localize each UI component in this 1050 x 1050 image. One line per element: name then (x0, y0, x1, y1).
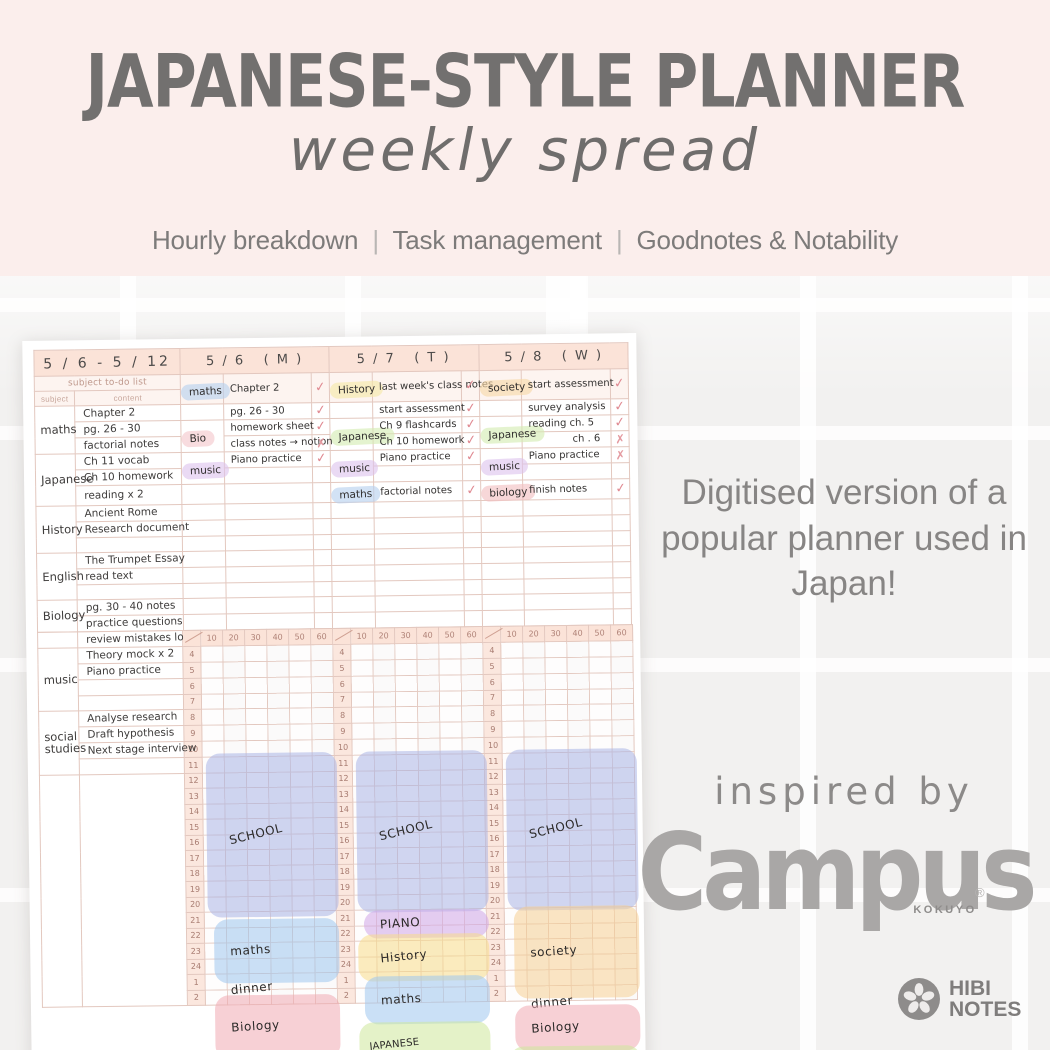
timeline-slot[interactable] (443, 986, 465, 1002)
timeline-slot[interactable] (568, 768, 590, 784)
timeline-slot[interactable] (373, 676, 395, 692)
timeline-slot[interactable] (611, 688, 633, 704)
timeline-slot[interactable] (547, 814, 569, 830)
timeline-slot[interactable] (373, 660, 395, 676)
timeline-slot[interactable] (440, 706, 462, 722)
timeline-slot[interactable] (204, 881, 226, 897)
timeline-slot[interactable] (442, 924, 464, 940)
timeline-slot[interactable] (202, 725, 224, 741)
timeline-slot[interactable] (549, 954, 571, 970)
timeline-slot[interactable] (248, 880, 270, 896)
timeline-slot[interactable] (354, 863, 376, 879)
timeline-slot[interactable] (464, 878, 486, 894)
timeline-slot[interactable] (501, 674, 523, 690)
todo-content-0-1[interactable]: pg. 26 - 30 (76, 420, 181, 438)
day-task-tue-1-0[interactable]: Ch 9 flashcards (373, 417, 461, 433)
timeline-slot[interactable] (202, 757, 224, 773)
timeline-slot[interactable] (417, 691, 439, 707)
todo-content-extra[interactable]: Piano practice (78, 662, 182, 680)
timeline-slot[interactable] (289, 677, 311, 693)
timeline-slot[interactable] (547, 845, 569, 861)
timeline-slot[interactable] (269, 787, 291, 803)
timeline-slot[interactable] (567, 641, 589, 657)
timeline-slot[interactable] (397, 847, 419, 863)
timeline-slot[interactable] (377, 956, 399, 972)
timeline-slot[interactable] (421, 987, 443, 1003)
task-check-tue-1-1[interactable]: ✓ (461, 433, 480, 449)
timeline-slot[interactable] (226, 865, 248, 881)
timeline-event-block[interactable] (510, 1045, 641, 1050)
day-task-mon-1-1[interactable]: class notes → notion (224, 435, 312, 451)
timeline-slot[interactable] (526, 908, 548, 924)
day-chip-wed-2[interactable]: music (483, 459, 525, 475)
day-chip-tue-3[interactable]: maths (334, 487, 378, 503)
timeline-slot[interactable] (615, 984, 637, 1000)
timeline-slot[interactable] (311, 645, 333, 661)
timeline-slot[interactable] (315, 988, 337, 1004)
timeline-slot[interactable] (226, 912, 248, 928)
timeline-slot[interactable] (545, 641, 567, 657)
timeline-slot[interactable] (352, 770, 374, 786)
timeline-slot[interactable] (315, 972, 337, 988)
timeline-slot[interactable] (202, 709, 224, 725)
timeline-slot[interactable] (524, 737, 546, 753)
timeline-slot[interactable] (439, 643, 461, 659)
timeline-slot[interactable] (463, 816, 485, 832)
timeline-slot[interactable] (223, 693, 245, 709)
task-cross-mon-1-1[interactable]: ✗ (312, 435, 331, 451)
timeline-slot[interactable] (314, 864, 336, 880)
timeline-slot[interactable] (311, 692, 333, 708)
timeline-slot[interactable] (569, 830, 591, 846)
todo-content-2-1[interactable]: Research document (77, 520, 182, 538)
timeline-slot[interactable] (461, 643, 483, 659)
timeline-slot[interactable] (271, 942, 293, 958)
timeline-slot[interactable] (223, 678, 245, 694)
timeline-slot[interactable] (224, 709, 246, 725)
timeline-slot[interactable] (545, 657, 567, 673)
timeline-slot[interactable] (418, 706, 440, 722)
timeline-slot[interactable] (505, 939, 527, 955)
timeline-slot[interactable] (439, 675, 461, 691)
timeline-slot[interactable] (525, 799, 547, 815)
timeline-slot[interactable] (502, 705, 524, 721)
timeline-slot[interactable] (464, 924, 486, 940)
timeline-slot[interactable] (592, 907, 614, 923)
timeline-slot[interactable] (352, 723, 374, 739)
timeline-slot[interactable] (397, 801, 419, 817)
task-check-mon-0-0[interactable]: ✓ (311, 380, 330, 396)
timeline-slot[interactable] (227, 989, 249, 1005)
timeline-slot[interactable] (224, 725, 246, 741)
timeline-slot[interactable] (269, 818, 291, 834)
timeline-slot[interactable] (248, 927, 270, 943)
todo-subject-2[interactable]: History (37, 523, 77, 536)
task-cross-wed-1-1[interactable]: ✗ (611, 431, 630, 447)
timeline-slot[interactable] (418, 754, 440, 770)
timeline-slot[interactable] (590, 736, 612, 752)
timeline-slot[interactable] (396, 754, 418, 770)
timeline-slot[interactable] (202, 741, 224, 757)
timeline-slot[interactable] (440, 722, 462, 738)
timeline-slot[interactable] (440, 769, 462, 785)
timeline-slot[interactable] (269, 834, 291, 850)
timeline-slot[interactable] (227, 958, 249, 974)
timeline-slot[interactable] (267, 661, 289, 677)
timeline-slot[interactable] (293, 957, 315, 973)
timeline-slot[interactable] (397, 816, 419, 832)
todo-content-extra[interactable]: Analyse research (79, 709, 183, 727)
timeline-slot[interactable] (463, 800, 485, 816)
timeline-slot[interactable] (353, 817, 375, 833)
timeline-slot[interactable] (419, 785, 441, 801)
todo-content-4-2[interactable]: review mistakes log (78, 630, 182, 648)
timeline-slot[interactable] (291, 849, 313, 865)
timeline-slot[interactable] (290, 708, 312, 724)
timeline-slot[interactable] (248, 896, 270, 912)
timeline-slot[interactable] (311, 677, 333, 693)
timeline-slot[interactable] (442, 878, 464, 894)
timeline-slot[interactable] (504, 908, 526, 924)
timeline-slot[interactable] (547, 830, 569, 846)
timeline-slot[interactable] (355, 972, 377, 988)
timeline-slot[interactable] (399, 940, 421, 956)
timeline-slot[interactable] (569, 814, 591, 830)
timeline-slot[interactable] (203, 788, 225, 804)
timeline-slot[interactable] (418, 770, 440, 786)
timeline-slot[interactable] (419, 832, 441, 848)
timeline-slot[interactable] (290, 724, 312, 740)
timeline-slot[interactable] (592, 891, 614, 907)
todo-content-extra[interactable] (79, 686, 183, 689)
timeline-slot[interactable] (504, 862, 526, 878)
task-cross-wed-2-0[interactable]: ✗ (611, 447, 630, 463)
timeline-slot[interactable] (313, 817, 335, 833)
timeline-slot[interactable] (503, 831, 525, 847)
timeline-slot[interactable] (226, 896, 248, 912)
timeline-slot[interactable] (568, 720, 590, 736)
timeline-slot[interactable] (290, 740, 312, 756)
timeline-slot[interactable] (398, 925, 420, 941)
timeline-slot[interactable] (613, 783, 635, 799)
timeline-slot[interactable] (568, 736, 590, 752)
timeline-slot[interactable] (464, 862, 486, 878)
timeline-slot[interactable] (523, 689, 545, 705)
timeline-slot[interactable] (203, 850, 225, 866)
day-task-wed-3-0[interactable]: finish notes (523, 481, 611, 497)
todo-content-3-2[interactable] (78, 590, 183, 593)
timeline-slot[interactable] (547, 783, 569, 799)
day-chip-tue-2[interactable]: music (334, 461, 376, 477)
timeline-slot[interactable] (205, 989, 227, 1005)
day-chip-mon-1[interactable]: Bio (184, 431, 211, 446)
task-check-tue-2-0[interactable]: ✓ (462, 449, 481, 465)
timeline-slot[interactable] (525, 846, 547, 862)
timeline-slot[interactable] (203, 819, 225, 835)
timeline-slot[interactable] (461, 675, 483, 691)
timeline-slot[interactable] (293, 942, 315, 958)
timeline-slot[interactable] (203, 834, 225, 850)
timeline-slot[interactable] (593, 938, 615, 954)
timeline-slot[interactable] (376, 863, 398, 879)
timeline-slot[interactable] (312, 740, 334, 756)
timeline-slot[interactable] (351, 644, 373, 660)
timeline-slot[interactable] (268, 772, 290, 788)
task-check-tue-1-0[interactable]: ✓ (461, 417, 480, 433)
todo-content-extra[interactable]: Theory mock x 2 (78, 646, 182, 664)
timeline-slot[interactable] (442, 862, 464, 878)
timeline-slot[interactable] (420, 878, 442, 894)
timeline-slot[interactable] (569, 799, 591, 815)
timeline-slot[interactable] (204, 865, 226, 881)
timeline-slot[interactable] (590, 704, 612, 720)
timeline-slot[interactable] (314, 926, 336, 942)
timeline-slot[interactable] (224, 757, 246, 773)
timeline-slot[interactable] (270, 896, 292, 912)
timeline-slot[interactable] (315, 957, 337, 973)
timeline-slot[interactable] (249, 942, 271, 958)
timeline-slot[interactable] (440, 754, 462, 770)
task-check-tue-0-1[interactable]: ✓ (461, 401, 480, 417)
timeline-slot[interactable] (442, 893, 464, 909)
timeline-slot[interactable] (615, 953, 637, 969)
timeline-slot[interactable] (526, 923, 548, 939)
timeline-slot[interactable] (504, 877, 526, 893)
timeline-slot[interactable] (567, 673, 589, 689)
timeline-slot[interactable] (245, 661, 267, 677)
task-check-mon-0-1[interactable]: ✓ (312, 403, 331, 419)
timeline-slot[interactable] (591, 829, 613, 845)
timeline-slot[interactable] (315, 941, 337, 957)
timeline-slot[interactable] (355, 956, 377, 972)
timeline-slot[interactable] (352, 739, 374, 755)
timeline-slot[interactable] (465, 971, 487, 987)
timeline-slot[interactable] (247, 787, 269, 803)
timeline-slot[interactable] (526, 861, 548, 877)
timeline-slot[interactable] (397, 832, 419, 848)
timeline-slot[interactable] (502, 753, 524, 769)
timeline-slot[interactable] (203, 803, 225, 819)
timeline-slot[interactable] (374, 723, 396, 739)
timeline-slot[interactable] (395, 643, 417, 659)
day-task-mon-1-0[interactable]: homework sheet (224, 419, 312, 435)
task-check-wed-0-1[interactable]: ✓ (610, 399, 629, 415)
todo-content-4-0[interactable]: pg. 30 - 40 notes (78, 598, 183, 616)
task-check-wed-3-0[interactable]: ✓ (611, 481, 630, 497)
timeline-slot[interactable] (591, 814, 613, 830)
todo-subject-5[interactable]: music (38, 673, 77, 686)
timeline-slot[interactable] (419, 816, 441, 832)
timeline-slot[interactable] (440, 738, 462, 754)
timeline-slot[interactable] (268, 724, 290, 740)
timeline-slot[interactable] (524, 768, 546, 784)
timeline-slot[interactable] (247, 803, 269, 819)
timeline-slot[interactable] (312, 724, 334, 740)
timeline-slot[interactable] (225, 850, 247, 866)
timeline-slot[interactable] (271, 973, 293, 989)
timeline-slot[interactable] (462, 706, 484, 722)
timeline-slot[interactable] (396, 770, 418, 786)
timeline-slot[interactable] (293, 988, 315, 1004)
timeline-slot[interactable] (291, 802, 313, 818)
timeline-slot[interactable] (589, 688, 611, 704)
timeline-slot[interactable] (421, 940, 443, 956)
todo-content-extra[interactable] (80, 764, 184, 767)
todo-content-1-0[interactable]: Ch 11 vocab (76, 452, 181, 470)
timeline-slot[interactable] (548, 861, 570, 877)
timeline-slot[interactable] (503, 846, 525, 862)
timeline-slot[interactable] (271, 989, 293, 1005)
timeline-slot[interactable] (441, 816, 463, 832)
timeline-slot[interactable] (375, 786, 397, 802)
timeline-slot[interactable] (465, 955, 487, 971)
todo-content-3-1[interactable]: read text (77, 567, 182, 585)
timeline-slot[interactable] (376, 910, 398, 926)
timeline-slot[interactable] (351, 660, 373, 676)
timeline-slot[interactable] (271, 958, 293, 974)
day-task-tue-1-1[interactable]: Ch 10 homework (373, 433, 461, 449)
timeline-slot[interactable] (612, 720, 634, 736)
timeline-slot[interactable] (443, 955, 465, 971)
timeline-slot[interactable] (225, 803, 247, 819)
timeline-slot[interactable] (463, 831, 485, 847)
timeline-slot[interactable] (527, 985, 549, 1001)
timeline-slot[interactable] (591, 845, 613, 861)
timeline-slot[interactable] (398, 863, 420, 879)
timeline-slot[interactable] (289, 661, 311, 677)
timeline-slot[interactable] (292, 864, 314, 880)
timeline-slot[interactable] (567, 689, 589, 705)
timeline-slot[interactable] (270, 865, 292, 881)
timeline-slot[interactable] (590, 767, 612, 783)
timeline-slot[interactable] (464, 909, 486, 925)
timeline-slot[interactable] (439, 659, 461, 675)
timeline-slot[interactable] (395, 675, 417, 691)
timeline-slot[interactable] (462, 769, 484, 785)
timeline-slot[interactable] (354, 925, 376, 941)
timeline-slot[interactable] (612, 704, 634, 720)
timeline-slot[interactable] (270, 911, 292, 927)
timeline-slot[interactable] (441, 847, 463, 863)
timeline-slot[interactable] (291, 787, 313, 803)
timeline-slot[interactable] (399, 987, 421, 1003)
timeline-slot[interactable] (226, 927, 248, 943)
timeline-slot[interactable] (548, 923, 570, 939)
timeline-slot[interactable] (548, 907, 570, 923)
todo-content-0-2[interactable]: factorial notes (76, 436, 181, 454)
timeline-slot[interactable] (224, 772, 246, 788)
timeline-slot[interactable] (205, 958, 227, 974)
timeline-slot[interactable] (202, 772, 224, 788)
timeline-slot[interactable] (570, 923, 592, 939)
day-task-wed-0-1[interactable]: survey analysis (522, 399, 610, 415)
timeline-slot[interactable] (313, 848, 335, 864)
timeline-slot[interactable] (568, 704, 590, 720)
timeline-slot[interactable] (245, 677, 267, 693)
timeline-slot[interactable] (377, 941, 399, 957)
timeline-slot[interactable] (502, 769, 524, 785)
timeline-slot[interactable] (354, 879, 376, 895)
timeline-slot[interactable] (527, 939, 549, 955)
timeline-slot[interactable] (593, 953, 615, 969)
timeline-slot[interactable] (545, 689, 567, 705)
timeline-slot[interactable] (205, 974, 227, 990)
timeline-slot[interactable] (570, 892, 592, 908)
task-check-wed-1-0[interactable]: ✓ (610, 415, 629, 431)
timeline-slot[interactable] (464, 893, 486, 909)
timeline-slot[interactable] (441, 800, 463, 816)
timeline-slot[interactable] (248, 865, 270, 881)
timeline-slot[interactable] (527, 954, 549, 970)
timeline-slot[interactable] (526, 877, 548, 893)
timeline-slot[interactable] (268, 756, 290, 772)
timeline-slot[interactable] (615, 938, 637, 954)
day-task-tue-3-0[interactable]: factorial notes (374, 483, 462, 499)
timeline-slot[interactable] (268, 708, 290, 724)
timeline-slot[interactable] (549, 985, 571, 1001)
timeline-slot[interactable] (502, 721, 524, 737)
timeline-slot[interactable] (461, 690, 483, 706)
timeline-slot[interactable] (270, 880, 292, 896)
timeline-slot[interactable] (290, 771, 312, 787)
timeline-slot[interactable] (375, 817, 397, 833)
timeline-slot[interactable] (461, 659, 483, 675)
timeline-slot[interactable] (312, 708, 334, 724)
todo-subject-6[interactable]: social studies (39, 730, 79, 755)
todo-content-0-0[interactable]: Chapter 2 (75, 404, 180, 422)
timeline-slot[interactable] (373, 644, 395, 660)
timeline-slot[interactable] (375, 832, 397, 848)
timeline-slot[interactable] (503, 800, 525, 816)
timeline-slot[interactable] (249, 989, 271, 1005)
timeline-slot[interactable] (225, 819, 247, 835)
timeline-slot[interactable] (291, 818, 313, 834)
timeline-slot[interactable] (442, 909, 464, 925)
timeline-slot[interactable] (227, 943, 249, 959)
timeline-slot[interactable] (569, 783, 591, 799)
planner-page[interactable]: 5 / 6 - 5 / 12 5 / 6 ( M ) 5 / 7 ( T ) 5… (22, 333, 646, 1050)
day-task-tue-0-0[interactable]: last week's class notes (373, 378, 461, 394)
task-check-tue-0-0[interactable]: ✓ (461, 378, 480, 394)
timeline-slot[interactable] (223, 662, 245, 678)
timeline-slot[interactable] (443, 971, 465, 987)
timeline-slot[interactable] (462, 722, 484, 738)
timeline-slot[interactable] (501, 658, 523, 674)
timeline-slot[interactable] (505, 985, 527, 1001)
todo-content-extra[interactable]: Next stage interview (79, 741, 183, 759)
timeline-slot[interactable] (399, 956, 421, 972)
todo-content-1-2[interactable]: reading x 2 (76, 486, 181, 504)
timeline-slot[interactable] (571, 938, 593, 954)
timeline-slot[interactable] (418, 738, 440, 754)
timeline-slot[interactable] (396, 738, 418, 754)
timeline-slot[interactable] (246, 724, 268, 740)
day-chip-mon-0[interactable]: maths (184, 384, 228, 400)
timeline-slot[interactable] (269, 803, 291, 819)
timeline-slot[interactable] (353, 801, 375, 817)
todo-subject-1[interactable]: Japanese (36, 473, 76, 486)
timeline-slot[interactable] (293, 973, 315, 989)
timeline-slot[interactable] (311, 661, 333, 677)
day-task-tue-0-1[interactable]: start assessment (373, 401, 461, 417)
timeline-slot[interactable] (225, 834, 247, 850)
timeline-slot[interactable] (462, 738, 484, 754)
timeline-slot[interactable] (376, 925, 398, 941)
timeline-slot[interactable] (267, 677, 289, 693)
day-task-mon-0-0[interactable]: Chapter 2 (223, 380, 311, 396)
day-task-wed-1-1[interactable]: ch . 6 (522, 431, 610, 447)
timeline-slot[interactable] (592, 876, 614, 892)
